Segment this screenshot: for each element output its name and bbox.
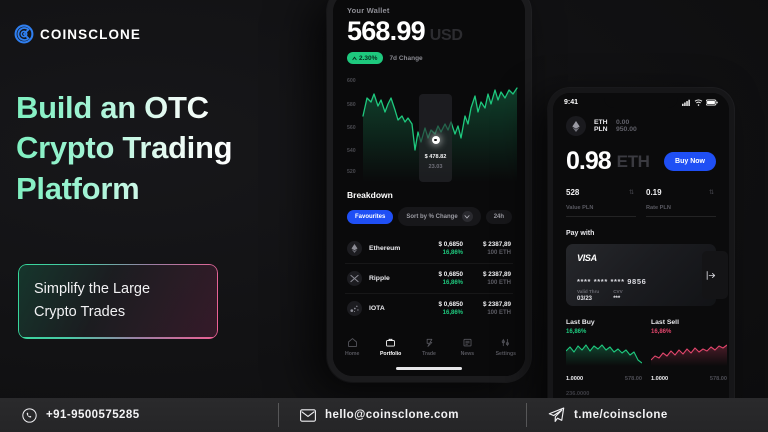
wallet-balance-row: 568.99 USD bbox=[347, 18, 511, 45]
page-title: Build an OTC Crypto Trading Platform bbox=[16, 88, 316, 209]
briefcase-icon bbox=[385, 337, 396, 348]
pay-with-label: Pay with bbox=[566, 230, 716, 237]
nav-label: Home bbox=[345, 351, 359, 357]
nav-item-trade[interactable]: Trade bbox=[410, 337, 448, 357]
footer-phone-text: +91-9500575285 bbox=[46, 409, 140, 421]
chart-tooltip: $ 478.82 23.03 bbox=[419, 94, 452, 182]
coin-value-cell: $ 2387,89 100 ETH bbox=[463, 301, 511, 316]
card-cvv: CVV *** bbox=[613, 289, 622, 302]
last-sell-pct: 16,86% bbox=[651, 329, 727, 335]
status-time: 9:41 bbox=[564, 99, 578, 106]
phone-mockup-portfolio: Your Wallet 568.99 USD 2.30% 7d Change 6… bbox=[327, 0, 531, 382]
pair-values: ETH 0.00 PLN 950.00 bbox=[594, 119, 637, 133]
change-period-label: 7d Change bbox=[389, 55, 422, 62]
coin-price: $ 0,6850 bbox=[417, 271, 463, 278]
valid-value: 03/23 bbox=[577, 296, 599, 302]
stat-value-pln[interactable]: 528 ⇅ Value PLN bbox=[566, 188, 636, 217]
wallet-label: Your Wallet bbox=[347, 6, 511, 15]
amount-row: 0.98 ETH Buy Now bbox=[566, 149, 716, 174]
coin-value: $ 2387,89 bbox=[463, 301, 511, 308]
visa-card[interactable]: VISA **** **** **** 9856 Valid Thru 03/2… bbox=[566, 244, 716, 306]
coin-value-cell: $ 2387,89 100 ETH bbox=[463, 271, 511, 286]
home-icon bbox=[347, 337, 358, 348]
ethereum-icon bbox=[347, 241, 362, 256]
coin-holding: 100 ETH bbox=[463, 250, 511, 256]
last-trades-row: Last Buy 16,86% 1.0000 578.00 bbox=[566, 319, 716, 382]
whatsapp-icon bbox=[22, 408, 37, 423]
visa-logo: VISA bbox=[577, 253, 597, 263]
coin-change: 16,86% bbox=[417, 310, 463, 316]
bottom-navigation: Home Portfolio Trade News Settings bbox=[333, 330, 525, 376]
iota-icon bbox=[347, 301, 362, 316]
table-row[interactable]: IOTA $ 0,6850 16,86% $ 2387,89 100 ETH bbox=[345, 294, 513, 323]
pair-key: ETH bbox=[594, 119, 610, 126]
pair-value: 950.00 bbox=[616, 126, 637, 133]
coin-name: Ripple bbox=[369, 275, 417, 282]
cvv-label: CVV bbox=[613, 289, 622, 294]
trade-icon bbox=[424, 337, 435, 348]
last-sell-card: Last Sell 16,86% 1.0000 578.00 bbox=[651, 319, 727, 382]
ethereum-icon bbox=[566, 116, 586, 136]
nav-item-news[interactable]: News bbox=[448, 337, 486, 357]
amount-value: 0.98 bbox=[566, 149, 611, 174]
battery-icon bbox=[706, 99, 718, 106]
promo-banner: COINSCLONE Build an OTC Crypto Trading P… bbox=[0, 0, 768, 432]
breakdown-filters: Favourites Sort by % Change 24h bbox=[347, 207, 525, 226]
wallet-balance: 568.99 bbox=[347, 18, 425, 45]
stat-label: Rate PLN bbox=[646, 205, 716, 211]
sort-chevron-icon bbox=[462, 211, 473, 222]
news-icon bbox=[462, 337, 473, 348]
portfolio-chart[interactable]: 600 580 560 540 520 bbox=[333, 72, 525, 184]
last-buy-pct: 16,86% bbox=[566, 329, 642, 335]
coin-price: $ 0,6850 bbox=[417, 241, 463, 248]
coin-value: $ 2387,89 bbox=[463, 241, 511, 248]
trend-up-icon bbox=[352, 56, 357, 61]
card-valid: Valid Thru 03/23 bbox=[577, 289, 599, 302]
coin-name: Ethereum bbox=[369, 245, 417, 252]
pair-value: 0.00 bbox=[616, 119, 629, 126]
stat-value: 528 bbox=[566, 188, 636, 197]
last-buy-values: 1.0000 578.00 bbox=[566, 376, 642, 382]
subtitle-line-2: Crypto Trades bbox=[34, 301, 204, 324]
footer-email-text: hello@coinsclone.com bbox=[325, 409, 459, 421]
footer-telegram[interactable]: t.me/coinsclone bbox=[526, 398, 768, 432]
nav-label: Trade bbox=[422, 351, 436, 357]
settings-sliders-icon bbox=[500, 337, 511, 348]
card-area: VISA **** **** **** 9856 Valid Thru 03/2… bbox=[566, 244, 716, 306]
coin-list: Ethereum $ 0,6850 16,86% $ 2387,89 100 E… bbox=[345, 234, 513, 323]
stat-rate-pln[interactable]: 0.19 ⇅ Rate PLN bbox=[646, 188, 716, 217]
status-bar: 9:41 bbox=[553, 96, 729, 108]
footer-email[interactable]: hello@coinsclone.com bbox=[278, 398, 526, 432]
card-number: **** **** **** 9856 bbox=[577, 277, 646, 286]
email-icon bbox=[300, 409, 316, 422]
coin-change: 16,86% bbox=[417, 250, 463, 256]
ripple-icon bbox=[347, 271, 362, 286]
buy-panel: ETH 0.00 PLN 950.00 0.98 ETH Buy Now bbox=[553, 93, 729, 397]
nav-label: News bbox=[461, 351, 475, 357]
table-row[interactable]: Ripple $ 0,6850 16,86% $ 2387,89 100 ETH bbox=[345, 264, 513, 294]
stats-row: 528 ⇅ Value PLN 0.19 ⇅ Rate PLN bbox=[566, 188, 716, 217]
breakdown-title: Breakdown bbox=[347, 190, 525, 200]
wallet-change-row: 2.30% 7d Change bbox=[347, 52, 511, 64]
nav-label: Settings bbox=[496, 351, 516, 357]
change-badge: 2.30% bbox=[347, 52, 383, 64]
last-sell-values: 1.0000 578.00 bbox=[651, 376, 727, 382]
nav-item-settings[interactable]: Settings bbox=[487, 337, 525, 357]
chip-favourites[interactable]: Favourites bbox=[347, 210, 393, 224]
headline-line-1: Build an OTC bbox=[16, 88, 316, 128]
tooltip-value: $ 478.82 bbox=[419, 154, 452, 160]
next-card-button[interactable] bbox=[702, 251, 728, 299]
footer-phone[interactable]: +91-9500575285 bbox=[0, 398, 278, 432]
nav-label: Portfolio bbox=[380, 351, 401, 357]
brand-name: COINSCLONE bbox=[40, 27, 141, 42]
phone-mockup-buy: 9:41 ETH 0.00 bbox=[548, 88, 734, 432]
headline-line-3: Platform bbox=[16, 169, 316, 209]
chip-sort[interactable]: Sort by % Change bbox=[398, 207, 480, 226]
last-sub-value: 236.0000 bbox=[566, 391, 716, 397]
pair-key: PLN bbox=[594, 126, 610, 133]
tooltip-time: 23.03 bbox=[419, 164, 452, 170]
wallet-header: Your Wallet 568.99 USD 2.30% 7d Change bbox=[333, 0, 525, 64]
nav-item-portfolio[interactable]: Portfolio bbox=[371, 337, 409, 357]
cvv-value: *** bbox=[613, 296, 622, 302]
home-indicator bbox=[396, 367, 462, 370]
last-sell-v1: 1.0000 bbox=[651, 376, 668, 382]
buy-now-button[interactable]: Buy Now bbox=[664, 152, 716, 171]
stat-label: Value PLN bbox=[566, 205, 636, 211]
change-pct: 2.30% bbox=[359, 55, 377, 62]
last-buy-v2: 578.00 bbox=[625, 376, 642, 382]
coin-price: $ 0,6850 bbox=[417, 301, 463, 308]
phone2-screen: 9:41 ETH 0.00 bbox=[553, 93, 729, 432]
status-indicators bbox=[682, 99, 718, 106]
stepper-icon: ⇅ bbox=[629, 189, 634, 196]
coin-value-cell: $ 2387,89 100 ETH bbox=[463, 241, 511, 256]
coin-price-cell: $ 0,6850 16,86% bbox=[417, 301, 463, 316]
pair-eth: ETH 0.00 bbox=[594, 119, 637, 126]
amount-unit: ETH bbox=[617, 152, 650, 172]
subtitle-box: Simplify the Large Crypto Trades bbox=[18, 264, 218, 339]
coin-change: 16,86% bbox=[417, 280, 463, 286]
contact-footer: +91-9500575285 hello@coinsclone.com t.me… bbox=[0, 398, 768, 432]
wallet-currency: USD bbox=[430, 27, 463, 45]
last-buy-v1: 1.0000 bbox=[566, 376, 583, 382]
pair-pln: PLN 950.00 bbox=[594, 126, 637, 133]
headline-line-2: Crypto Trading bbox=[16, 128, 316, 168]
signal-icon bbox=[682, 99, 691, 106]
footer-telegram-text: t.me/coinsclone bbox=[574, 409, 668, 421]
stat-value: 0.19 bbox=[646, 188, 716, 197]
card-footer: Valid Thru 03/23 CVV *** bbox=[577, 289, 623, 302]
last-sell-v2: 578.00 bbox=[710, 376, 727, 382]
chip-sort-label: Sort by % Change bbox=[406, 214, 457, 220]
coin-holding: 100 ETH bbox=[463, 280, 511, 286]
brand-logo[interactable]: COINSCLONE bbox=[14, 24, 141, 44]
chart-cursor-dot bbox=[432, 136, 440, 144]
arrow-right-icon bbox=[706, 270, 717, 281]
coinsclone-circle-logo-icon bbox=[14, 24, 34, 44]
valid-label: Valid Thru bbox=[577, 289, 599, 294]
last-buy-card: Last Buy 16,86% 1.0000 578.00 bbox=[566, 319, 642, 382]
coin-price-cell: $ 0,6850 16,86% bbox=[417, 271, 463, 286]
phone1-screen: Your Wallet 568.99 USD 2.30% 7d Change 6… bbox=[333, 0, 525, 376]
table-row[interactable]: Ethereum $ 0,6850 16,86% $ 2387,89 100 E… bbox=[345, 234, 513, 264]
last-sell-sparkline bbox=[651, 339, 727, 366]
nav-item-home[interactable]: Home bbox=[333, 337, 371, 357]
chip-24h[interactable]: 24h bbox=[486, 210, 512, 224]
coin-price-cell: $ 0,6850 16,86% bbox=[417, 241, 463, 256]
coin-holding: 100 ETH bbox=[463, 310, 511, 316]
stepper-icon: ⇅ bbox=[709, 189, 714, 196]
pair-row: ETH 0.00 PLN 950.00 bbox=[566, 116, 716, 136]
last-sell-title: Last Sell bbox=[651, 319, 727, 326]
subtitle-line-1: Simplify the Large bbox=[34, 278, 204, 301]
coin-value: $ 2387,89 bbox=[463, 271, 511, 278]
coin-name: IOTA bbox=[369, 305, 417, 312]
wifi-icon bbox=[694, 99, 703, 106]
last-buy-title: Last Buy bbox=[566, 319, 642, 326]
last-buy-sparkline bbox=[566, 339, 642, 366]
telegram-icon bbox=[548, 407, 565, 423]
